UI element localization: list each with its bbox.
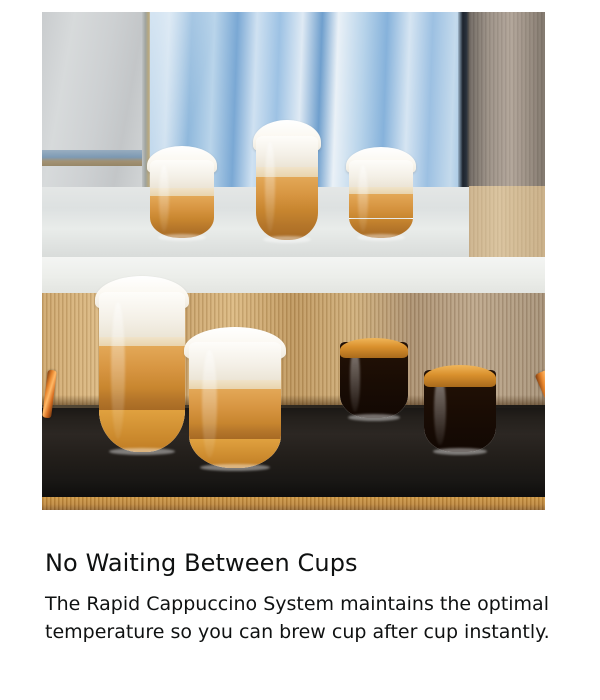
feature-text-block: No Waiting Between Cups The Rapid Cappuc… — [45, 548, 565, 646]
glass-base — [109, 448, 174, 455]
cup-base — [348, 414, 400, 421]
glass-highlight — [202, 350, 217, 458]
glass-base — [263, 236, 310, 243]
glass-body — [99, 292, 185, 452]
feature-description: The Rapid Cappuccino System maintains th… — [45, 590, 550, 646]
product-feature-image — [42, 12, 545, 510]
glass-highlight — [111, 302, 125, 440]
latte-macchiato-glass-upper-center — [256, 136, 318, 240]
cappuccino-glass-upper-left — [150, 160, 214, 238]
product-feature-page: { "feature": { "headline": "No Waiting B… — [0, 0, 600, 700]
photo-scene — [42, 12, 545, 510]
glass-highlight — [265, 142, 275, 231]
cappuccino-glass-upper-right — [349, 160, 413, 238]
glass-highlight — [358, 165, 368, 232]
espresso-cup-lower-center-right — [340, 342, 408, 418]
cappuccino-glass-lower-center — [189, 342, 281, 468]
crema-surface — [340, 338, 408, 358]
crema-surface — [424, 365, 496, 387]
feature-headline: No Waiting Between Cups — [45, 548, 565, 578]
cup-base — [433, 448, 488, 455]
glass-base — [158, 234, 207, 241]
espresso-cup-lower-right — [424, 370, 496, 452]
wood-plinth-strip — [42, 497, 545, 510]
glass-body — [349, 160, 413, 238]
wood-panel-right-upper — [469, 12, 545, 257]
glass-highlight — [159, 165, 169, 232]
glass-body — [256, 136, 318, 240]
glass-body — [150, 160, 214, 238]
glass-base — [357, 234, 406, 241]
glass-body — [189, 342, 281, 468]
latte-macchiato-glass-lower-left — [99, 292, 185, 452]
glass-base — [200, 464, 270, 471]
